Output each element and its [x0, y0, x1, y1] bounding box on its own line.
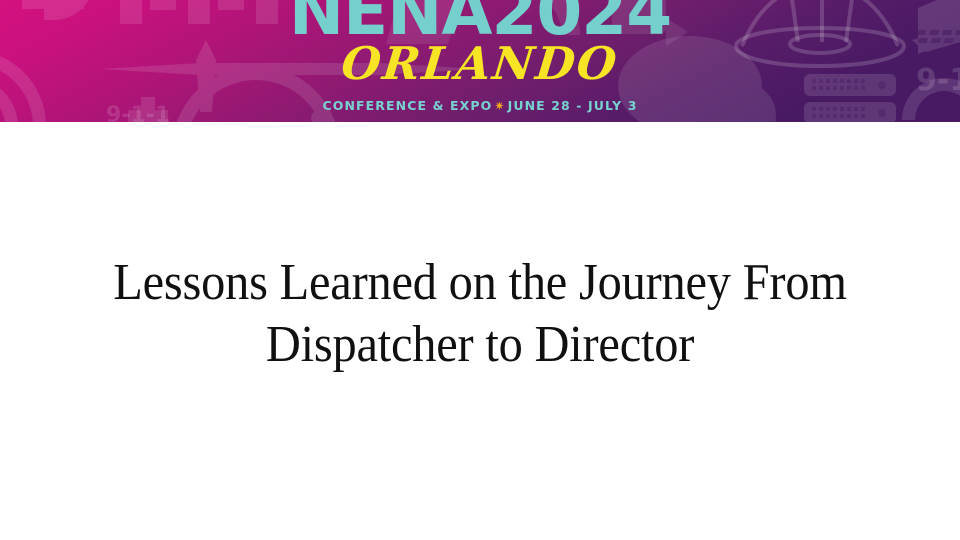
- nena-conference-banner: 9-1 9-1-1 NENA2024 ORLANDO CONFERENCE & …: [0, 0, 960, 122]
- slide: 9-1 9-1-1 NENA2024 ORLANDO CONFERENCE & …: [0, 0, 960, 540]
- svg-text:9-1-1: 9-1-1: [106, 103, 170, 122]
- banner-background-artwork: 9-1 9-1-1: [0, 0, 960, 122]
- slide-title: Lessons Learned on the Journey From Disp…: [86, 252, 875, 376]
- slide-title-block: Lessons Learned on the Journey From Disp…: [56, 252, 904, 376]
